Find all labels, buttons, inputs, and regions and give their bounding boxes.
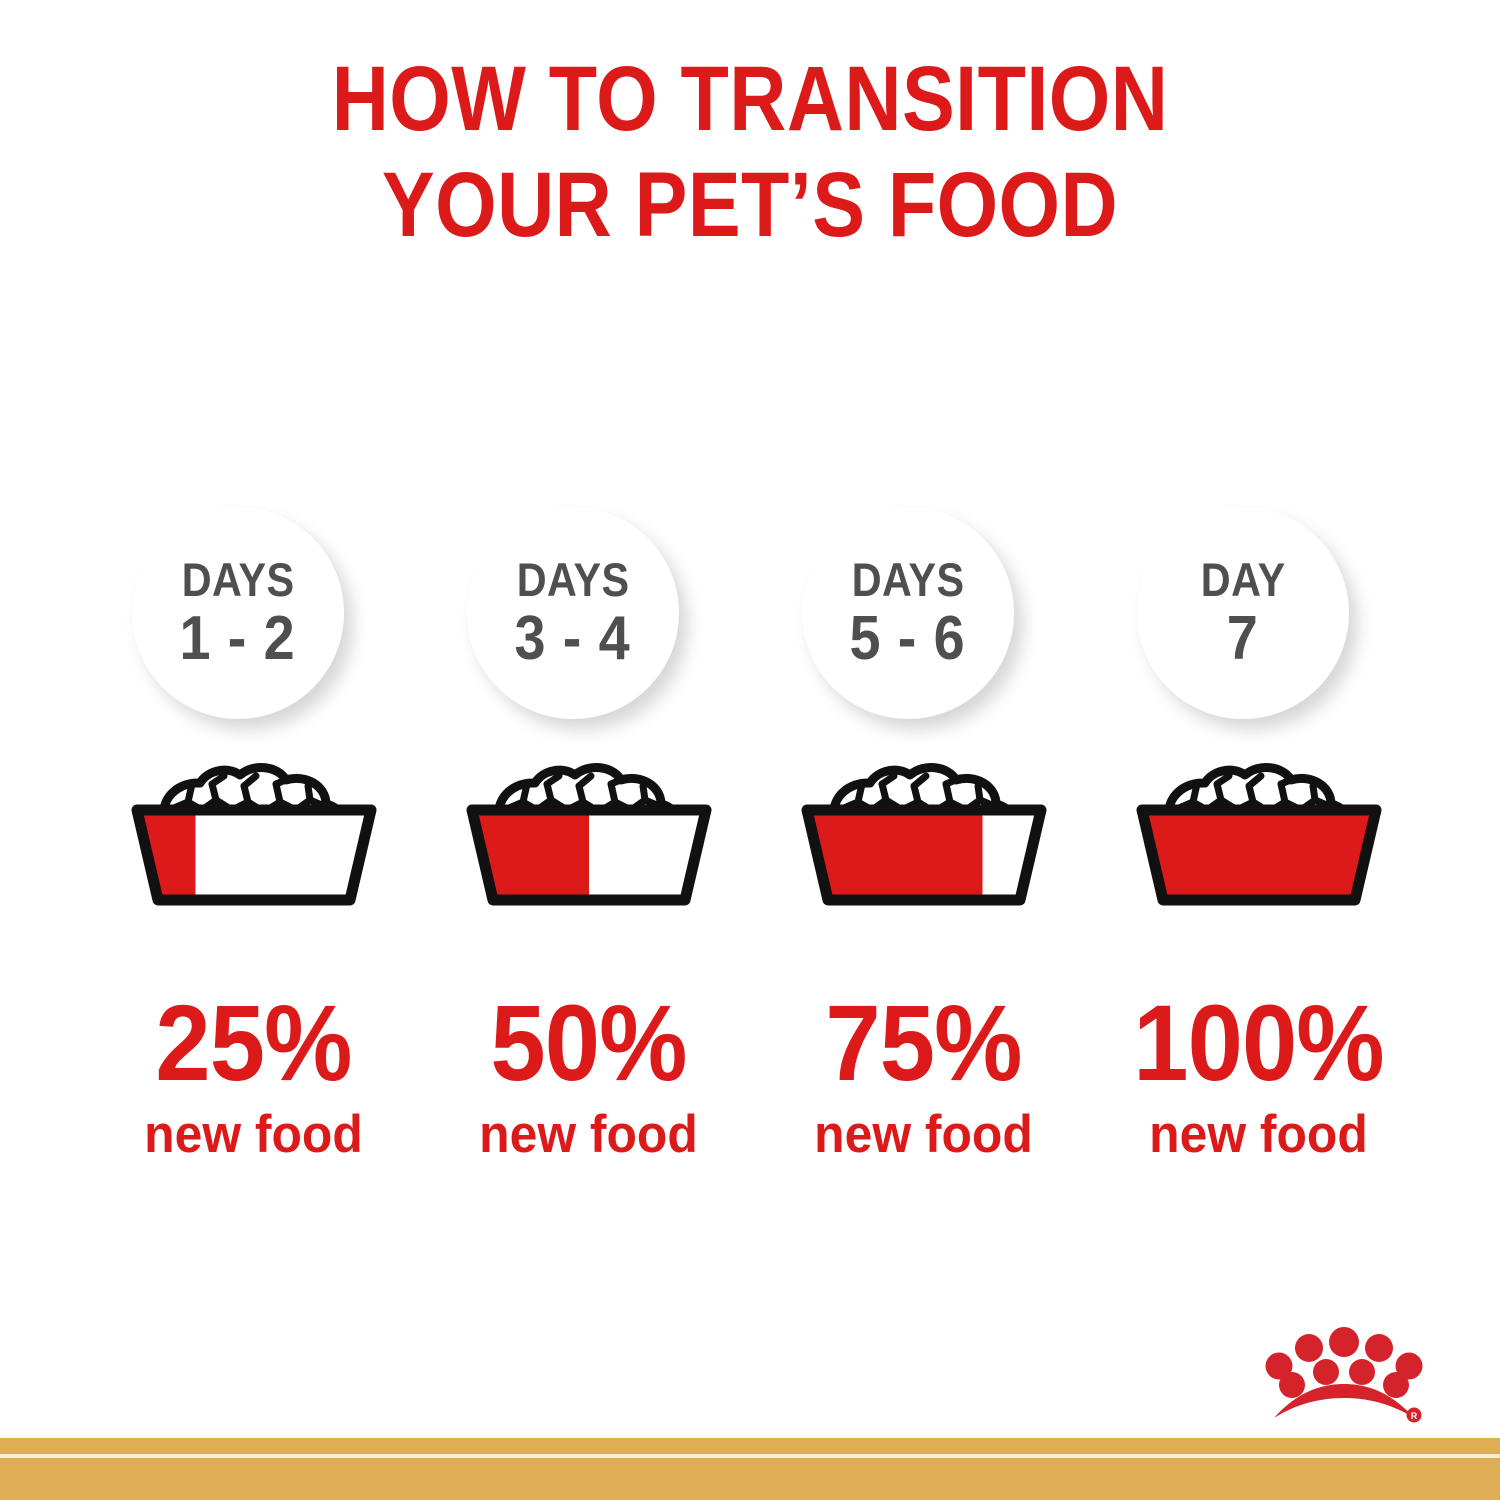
day-badge-number-3: 5 - 6	[850, 606, 966, 672]
day-badge-4: DAY 7	[1137, 507, 1349, 719]
transition-steps: DAYS 1 - 2	[86, 505, 1426, 1164]
percent-value-2: 50%	[434, 988, 742, 1098]
day-badge-word-3: DAYS	[852, 555, 965, 604]
food-bowl-icon-2	[439, 752, 739, 922]
title-line-1: HOW TO TRANSITION	[105, 46, 1395, 152]
percent-block-1: 25% new food	[86, 988, 421, 1164]
day-badge-1: DAYS 1 - 2	[132, 507, 344, 719]
day-badge-wrap-1: DAYS 1 - 2	[86, 505, 421, 730]
day-badge-2: DAYS 3 - 4	[467, 507, 679, 719]
food-bowl-1	[86, 752, 421, 952]
bowl-body-1	[137, 802, 371, 912]
footer-gold-band	[0, 1438, 1500, 1500]
transition-step-4: DAY 7	[1091, 505, 1426, 1164]
percent-caption-1: new food	[96, 1106, 411, 1164]
percent-block-3: 75% new food	[756, 988, 1091, 1164]
registered-mark: R	[1407, 1408, 1422, 1423]
day-badge-number-4: 7	[1227, 606, 1259, 672]
day-badge-word-1: DAYS	[182, 555, 295, 604]
day-badge-wrap-4: DAY 7	[1091, 505, 1426, 730]
percent-value-3: 75%	[769, 988, 1077, 1098]
day-badge-number-1: 1 - 2	[180, 606, 296, 672]
crown-icon: R	[1262, 1322, 1426, 1434]
food-bowl-icon-4	[1109, 752, 1409, 922]
day-badge-word-4: DAY	[1201, 555, 1286, 604]
bowl-body-3	[807, 802, 1041, 912]
day-badge-wrap-3: DAYS 5 - 6	[756, 505, 1091, 730]
percent-caption-4: new food	[1101, 1106, 1416, 1164]
title-line-2: YOUR PET’S FOOD	[105, 152, 1395, 258]
transition-step-2: DAYS 3 - 4	[421, 505, 756, 1164]
gold-band-hairline	[0, 1454, 1500, 1458]
food-bowl-2	[421, 752, 756, 952]
food-bowl-icon-3	[774, 752, 1074, 922]
food-bowl-4	[1091, 752, 1426, 952]
percent-caption-3: new food	[766, 1106, 1081, 1164]
percent-caption-2: new food	[431, 1106, 746, 1164]
percent-block-4: 100% new food	[1091, 988, 1426, 1164]
day-badge-wrap-2: DAYS 3 - 4	[421, 505, 756, 730]
day-badge-number-2: 3 - 4	[515, 606, 631, 672]
day-badge-word-2: DAYS	[517, 555, 630, 604]
bowl-body-4	[1142, 802, 1376, 912]
transition-step-3: DAYS 5 - 6	[756, 505, 1091, 1164]
page-title: HOW TO TRANSITION YOUR PET’S FOOD	[0, 46, 1500, 258]
percent-value-4: 100%	[1104, 988, 1412, 1098]
bowl-body-2	[472, 802, 706, 912]
day-badge-3: DAYS 5 - 6	[802, 507, 1014, 719]
food-bowl-icon-1	[104, 752, 404, 922]
percent-block-2: 50% new food	[421, 988, 756, 1164]
transition-step-1: DAYS 1 - 2	[86, 505, 421, 1164]
brand-logo: R	[1262, 1322, 1426, 1434]
svg-text:R: R	[1411, 1411, 1418, 1421]
food-bowl-3	[756, 752, 1091, 952]
percent-value-1: 25%	[99, 988, 407, 1098]
